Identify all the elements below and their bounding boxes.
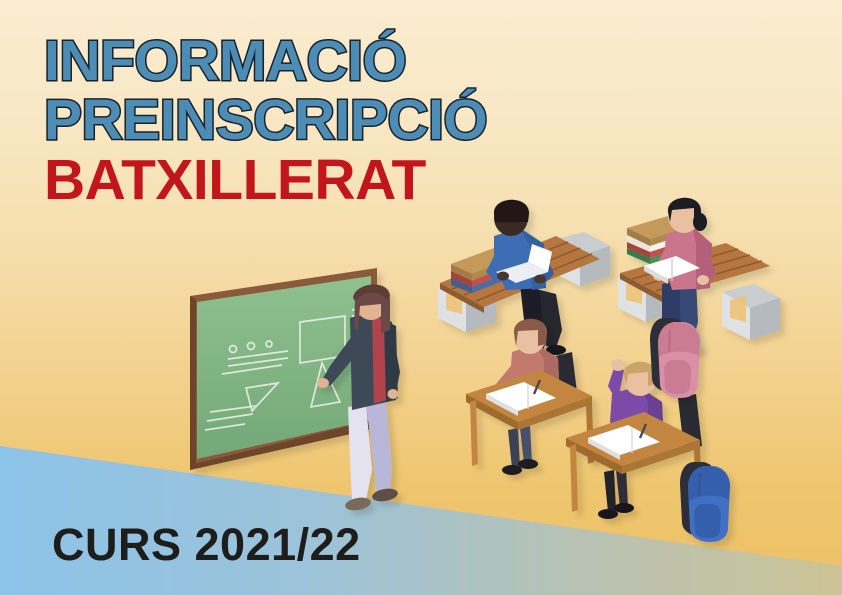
- backpack-pink: [650, 318, 700, 398]
- year-caption: CURS 2021/22: [52, 519, 361, 571]
- title-line-preinscripcio: PREINSCRIPCIÓ: [44, 93, 604, 148]
- chalkboard: [190, 268, 377, 470]
- title-line-batxillerat: BATXILLERAT: [44, 153, 604, 208]
- title-line-informacio: INFORMACIÓ: [44, 34, 604, 89]
- poster-canvas: INFORMACIÓ PREINSCRIPCIÓ BATXILLERAT CUR…: [0, 0, 842, 595]
- headline-block: INFORMACIÓ PREINSCRIPCIÓ BATXILLERAT: [44, 34, 604, 208]
- backpack-blue: [680, 462, 730, 542]
